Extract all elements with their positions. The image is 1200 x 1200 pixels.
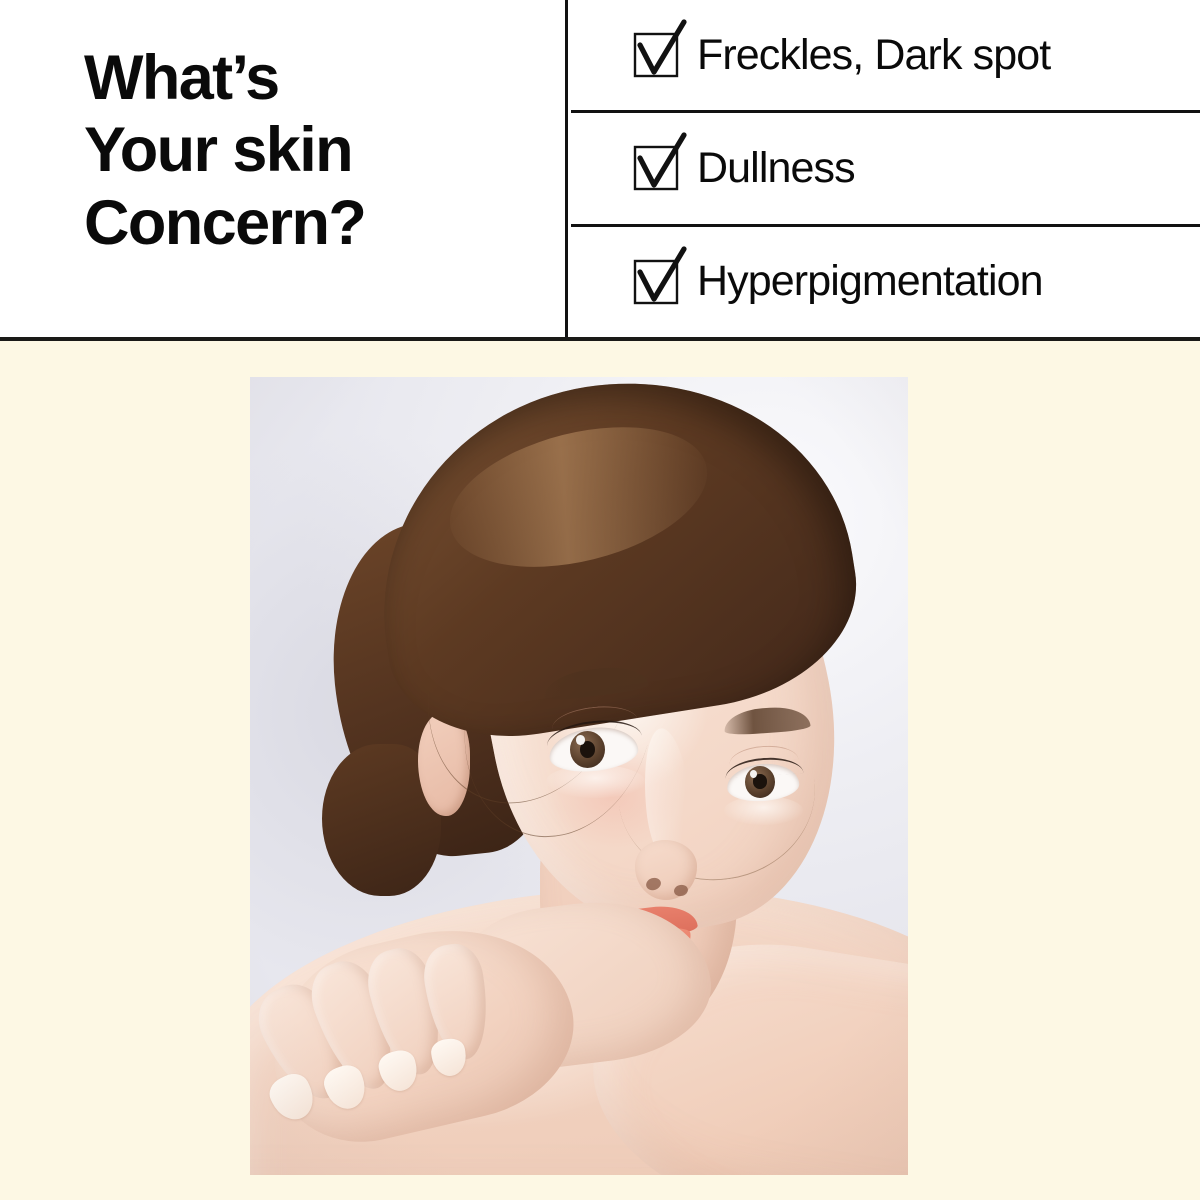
list-item[interactable]: Freckles, Dark spot [571,0,1200,113]
skin-concern-checklist: Freckles, Dark spot Dullness [571,0,1200,337]
headline-panel: What’s Your skin Concern? [0,0,568,337]
list-item-label: Hyperpigmentation [697,257,1043,306]
checkbox-checked-icon[interactable] [634,146,678,190]
checkbox-checked-icon[interactable] [634,260,678,304]
model-portrait-image [250,377,908,1175]
header-section: What’s Your skin Concern? Freckles, Dark… [0,0,1200,341]
promo-graphic: What’s Your skin Concern? Freckles, Dark… [0,0,1200,1200]
page-title: What’s Your skin Concern? [84,42,554,259]
list-item-label: Freckles, Dark spot [697,31,1050,80]
list-item[interactable]: Hyperpigmentation [571,227,1200,337]
checkbox-checked-icon[interactable] [634,33,678,77]
list-item[interactable]: Dullness [571,113,1200,226]
list-item-label: Dullness [697,144,855,193]
